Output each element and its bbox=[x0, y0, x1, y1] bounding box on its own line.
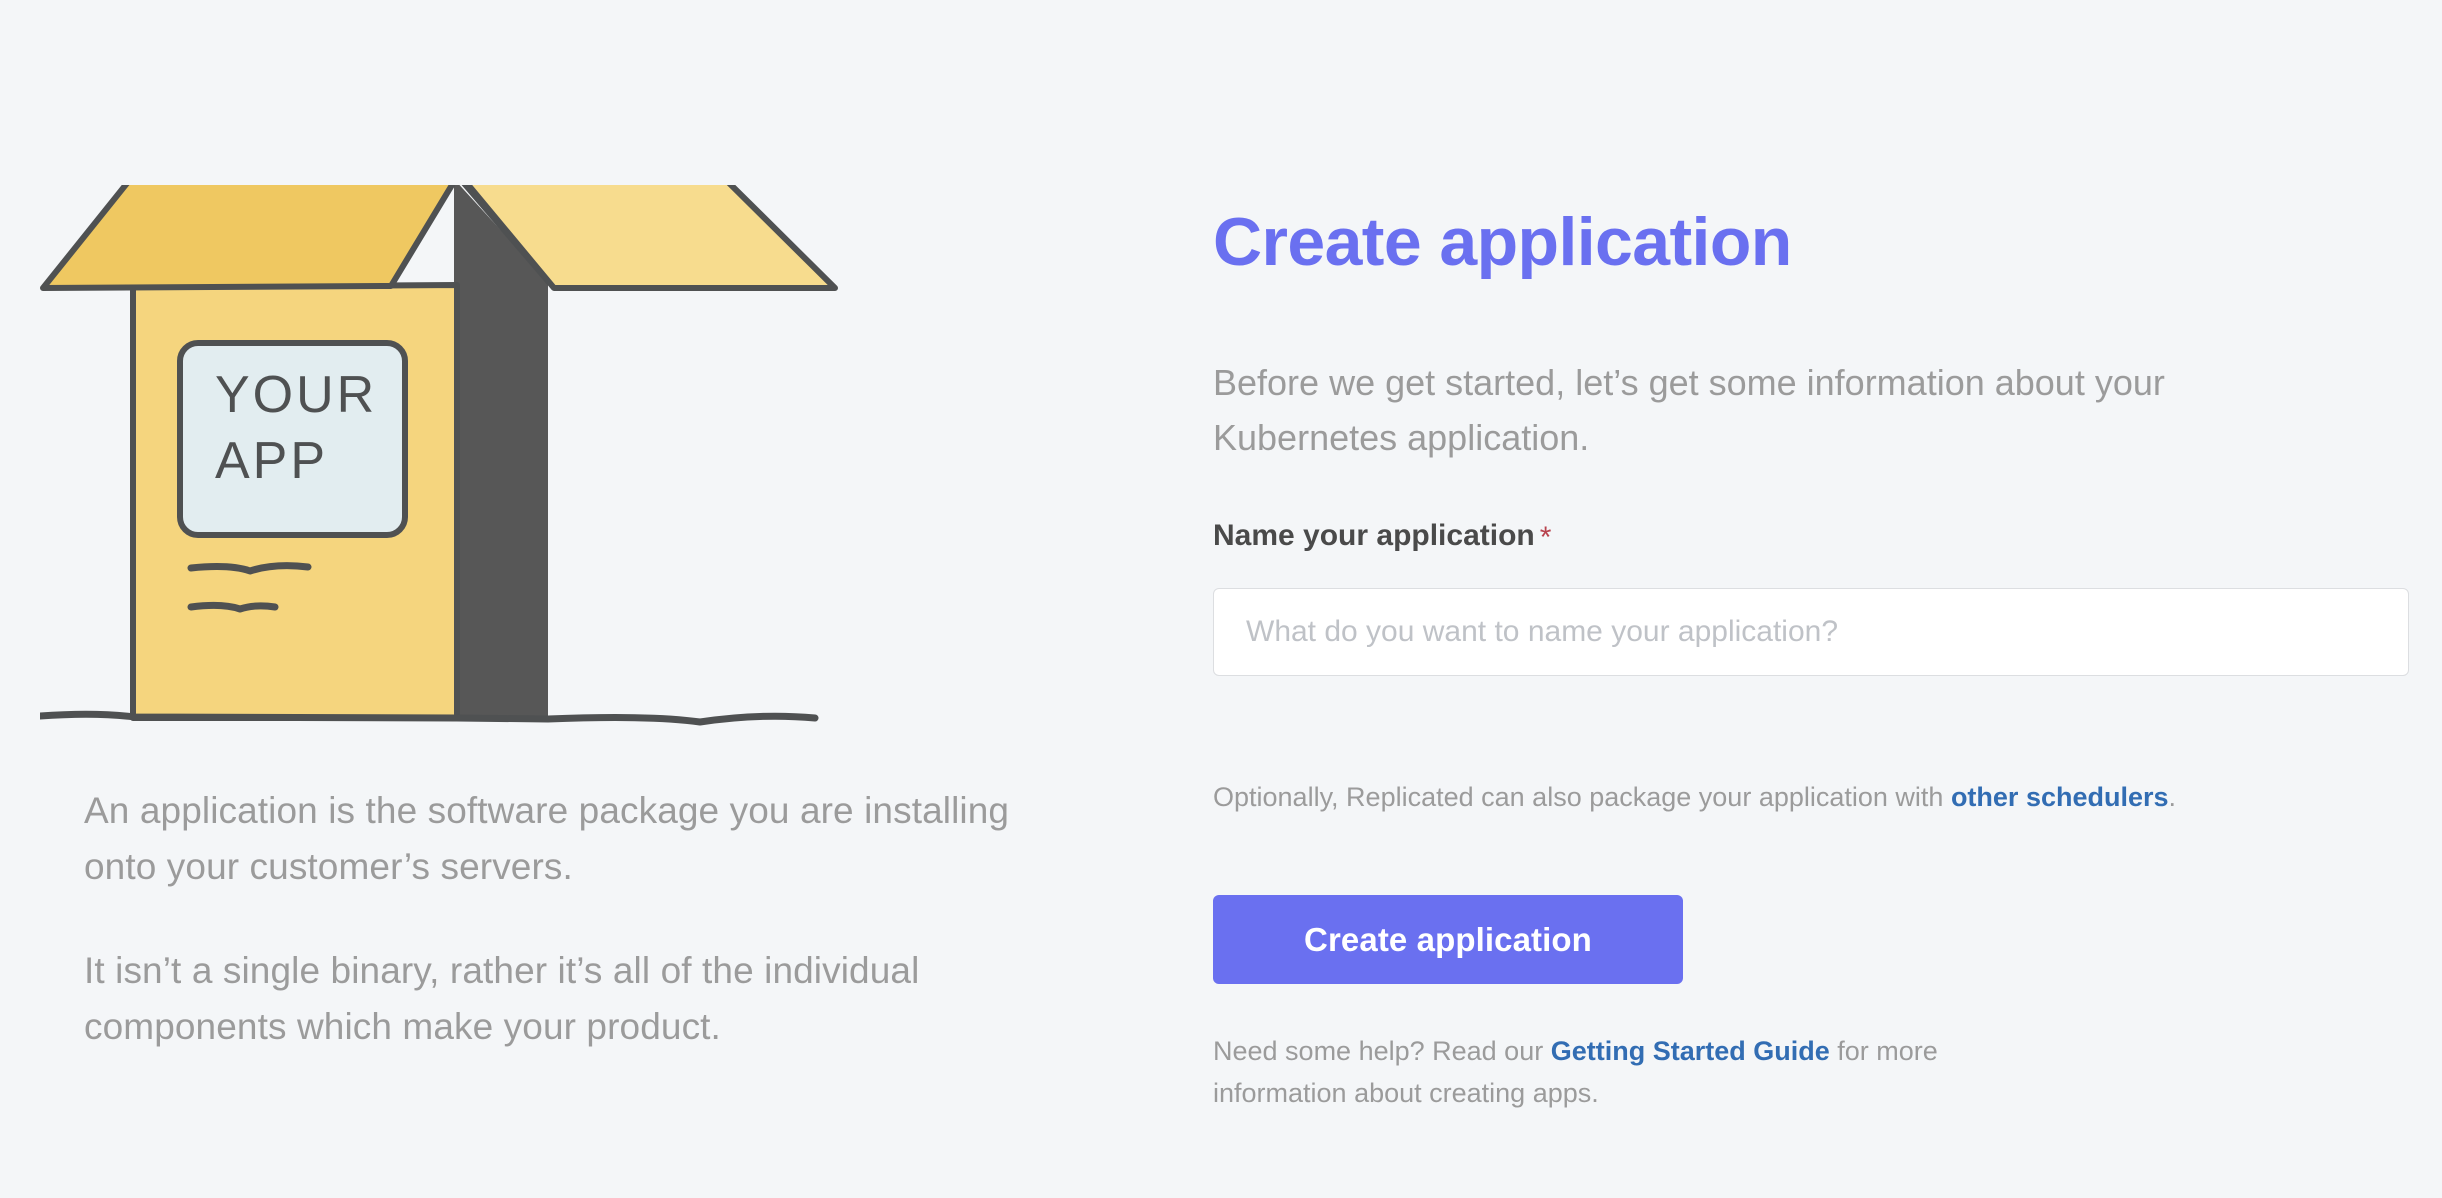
box-dash-line-2 bbox=[191, 605, 275, 609]
help-text-prefix: Need some help? Read our bbox=[1213, 1036, 1551, 1066]
your-app-box-illustration: YOUR APP bbox=[40, 185, 1040, 730]
create-application-form-column: Create application Before we get started… bbox=[1213, 0, 2442, 1198]
box-label-line1: YOUR bbox=[215, 366, 377, 424]
box-flap-left bbox=[43, 185, 458, 288]
left-paragraph-1: An application is the software package y… bbox=[84, 783, 1014, 895]
create-application-page: YOUR APP An application is the software … bbox=[0, 0, 2442, 1198]
getting-started-guide-link[interactable]: Getting Started Guide bbox=[1551, 1036, 1830, 1066]
required-asterisk-icon: * bbox=[1540, 521, 1552, 554]
left-info-column: YOUR APP An application is the software … bbox=[0, 0, 1140, 1198]
application-name-label: Name your application* bbox=[1213, 518, 1551, 554]
optional-note-suffix: . bbox=[2169, 782, 2177, 812]
other-schedulers-link[interactable]: other schedulers bbox=[1951, 782, 2169, 812]
page-subtitle: Before we get started, let’s get some in… bbox=[1213, 355, 2353, 465]
box-label-line2: APP bbox=[215, 432, 328, 490]
application-name-label-text: Name your application bbox=[1213, 519, 1535, 552]
create-application-button[interactable]: Create application bbox=[1213, 895, 1683, 984]
optional-schedulers-note: Optionally, Replicated can also package … bbox=[1213, 778, 2176, 816]
left-paragraph-2: It isn’t a single binary, rather it’s al… bbox=[84, 943, 1014, 1055]
application-name-input[interactable] bbox=[1213, 588, 2409, 676]
help-text-block: Need some help? Read our Getting Started… bbox=[1213, 1030, 1973, 1114]
optional-note-prefix: Optionally, Replicated can also package … bbox=[1213, 782, 1951, 812]
page-title: Create application bbox=[1213, 203, 1792, 281]
left-description-block: An application is the software package y… bbox=[84, 783, 1014, 1055]
